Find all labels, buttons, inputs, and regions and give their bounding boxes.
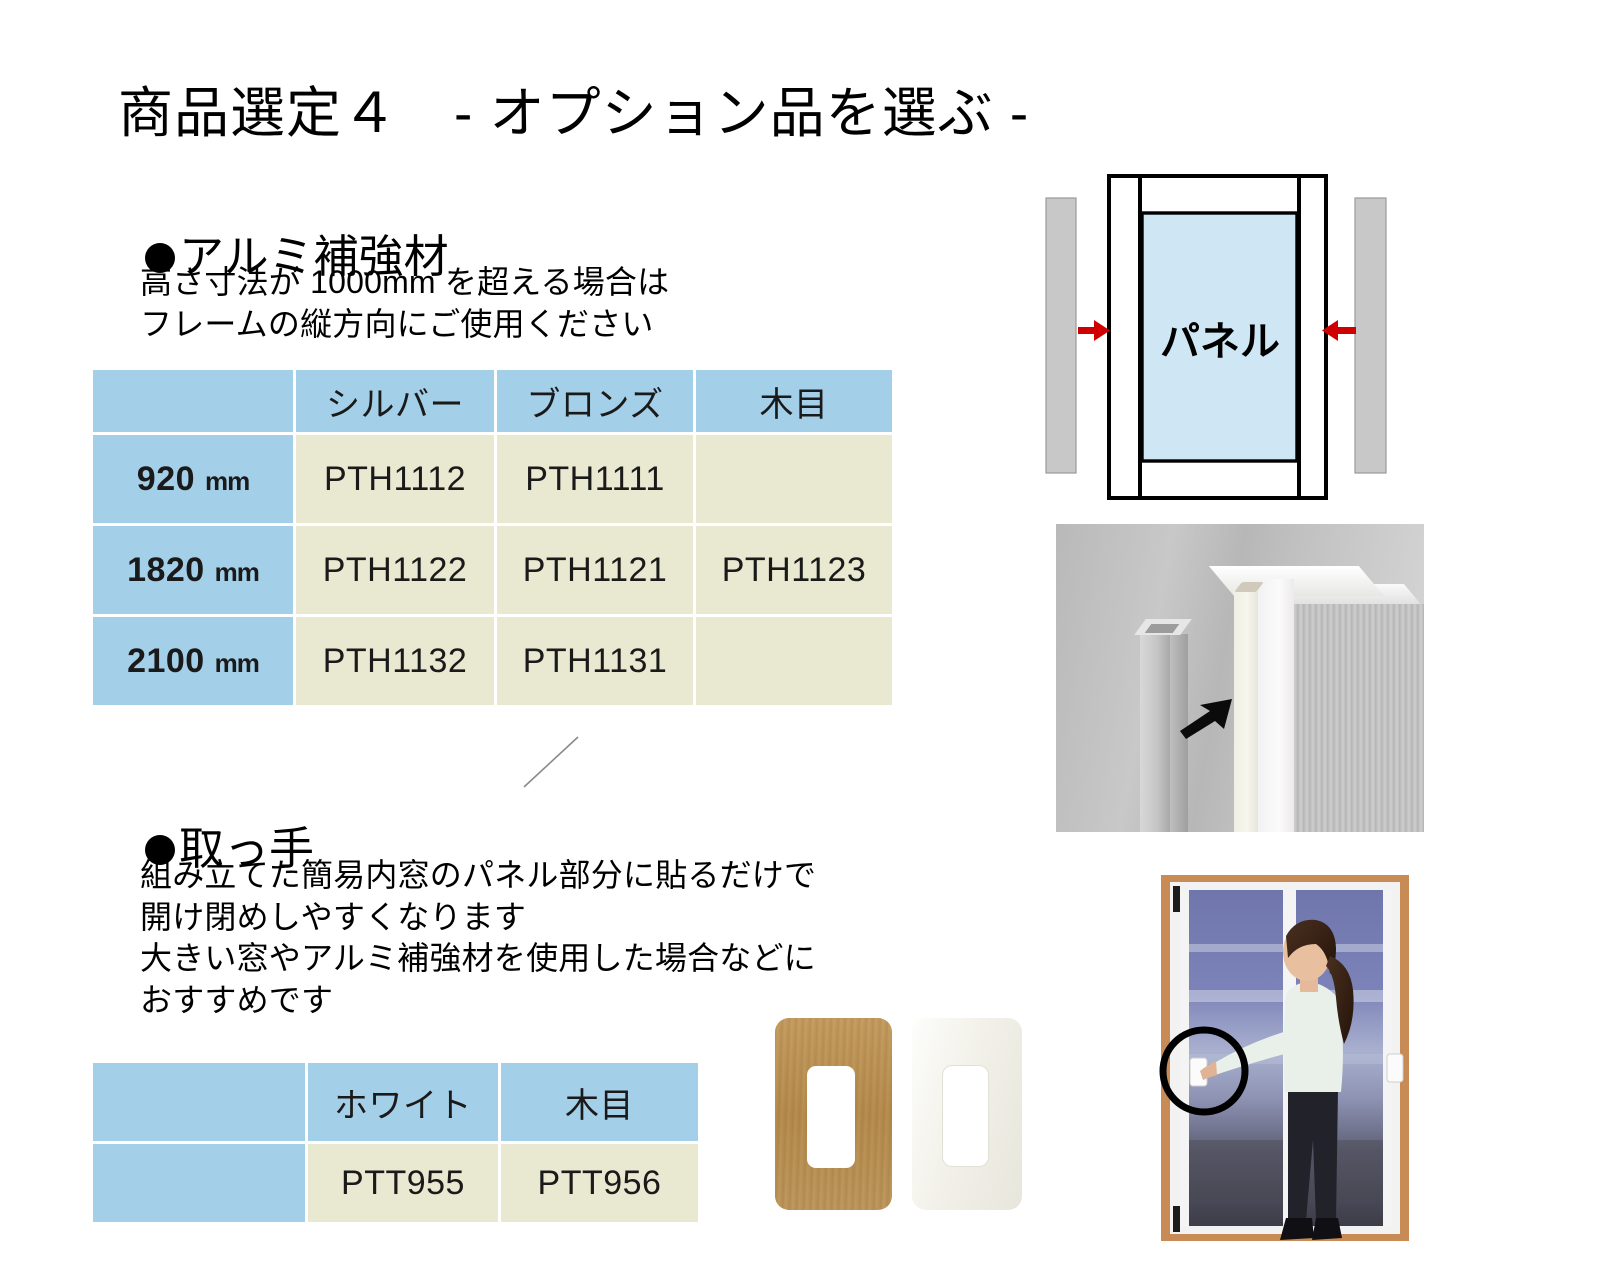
cell-1820-woodgrain: PTH1123 [696,526,892,614]
cell-920-woodgrain [696,435,892,523]
row-header-1820: 1820 mm [93,526,293,614]
header-cell-woodgrain: 木目 [501,1063,698,1141]
table-row: 2100 mm PTH1132 PTH1131 [93,617,892,705]
cell-2100-bronze: PTH1131 [497,617,693,705]
black-arrow-icon [1180,699,1240,739]
row-header-920-value: 920 [137,460,195,498]
row-header-1820-value: 1820 [127,551,205,589]
cell-2100-woodgrain [696,617,892,705]
panel-reinforcement-diagram: パネル [1010,150,1590,520]
header-cell-bronze: ブロンズ [497,370,693,432]
page-title: 商品選定４ - オプション品を選ぶ - [118,83,1029,144]
header-cell-woodgrain: 木目 [696,370,892,432]
table-row: 920 mm PTH1112 PTH1111 [93,435,892,523]
cell-handle-white: PTT955 [308,1144,498,1222]
person-shoe [1312,1218,1342,1240]
header-cell-silver: シルバー [296,370,494,432]
table-header-row: シルバー ブロンズ 木目 [93,370,892,432]
table-header-row: ホワイト 木目 [93,1063,698,1141]
table-row: 1820 mm PTH1122 PTH1121 PTH1123 [93,526,892,614]
cell-920-silver: PTH1112 [296,435,494,523]
photo-window-usage [1120,840,1520,1260]
row-header-blank [93,1144,305,1222]
handle-cutout [807,1066,855,1168]
person-blouse [1284,982,1343,1092]
row-header-1820-unit: mm [215,557,259,587]
reinforcement-bar-icon [1046,198,1076,473]
cell-920-bronze: PTH1111 [497,435,693,523]
window-corner-shade [1173,886,1180,912]
cell-1820-silver: PTH1122 [296,526,494,614]
row-header-2100-unit: mm [215,648,259,678]
handle-on-right-panel [1387,1054,1403,1082]
slide-page: 商品選定４ - オプション品を選ぶ - アルミ補強材 高さ寸法が 1000mm … [0,0,1600,1280]
section-description-handle: 組み立てた簡易内窓のパネル部分に貼るだけで 開け閉めしやすくなります 大きい窓や… [140,855,816,1021]
cell-2100-silver: PTH1132 [296,617,494,705]
header-cell-white: ホワイト [308,1063,498,1141]
header-cell-blank [93,370,293,432]
aluminum-spec-table: シルバー ブロンズ 木目 920 mm PTH1112 PTH1111 1820… [90,367,895,708]
photo-aluminum-reinforcement [1056,524,1424,832]
handle-spec-table: ホワイト 木目 PTT955 PTT956 [90,1060,701,1225]
row-header-2100: 2100 mm [93,617,293,705]
stray-diagonal-line [520,733,582,791]
panel-corrugated-sheet [1292,604,1424,832]
row-header-920: 920 mm [93,435,293,523]
cell-1820-bronze: PTH1121 [497,526,693,614]
panel-label: パネル [1160,320,1280,364]
cell-handle-woodgrain: PTT956 [501,1144,698,1222]
handle-cutout [943,1066,988,1166]
aluminum-bar-front [1140,627,1170,832]
header-cell-blank [93,1063,305,1141]
arrow-right-icon [1078,320,1110,341]
table-row: PTT955 PTT956 [93,1144,698,1222]
reinforcement-bar-icon [1355,198,1386,473]
photo-handle-white [912,1018,1022,1210]
section-description-aluminum: 高さ寸法が 1000mm を超える場合は フレームの縦方向にご使用ください [140,262,669,345]
window-corner-shade [1173,1206,1180,1232]
photo-handle-woodgrain [775,1018,892,1210]
panel-frame-face [1258,579,1294,832]
window-sash-left [1180,890,1189,1226]
row-header-2100-value: 2100 [127,642,205,680]
row-header-920-unit: mm [205,466,249,496]
